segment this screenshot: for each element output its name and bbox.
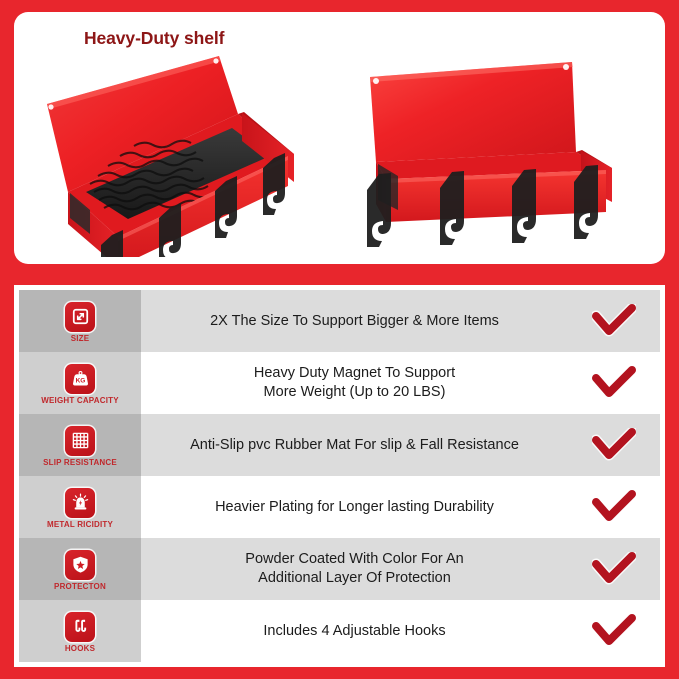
resize-size-icon <box>65 302 95 332</box>
feature-icon-cell: SLIP RESISTANCE <box>19 414 141 476</box>
checkmark-icon <box>592 490 636 524</box>
feature-icon-label: METAL RICIDITY <box>47 521 113 529</box>
feature-icon-cell: METAL RICIDITY <box>19 476 141 538</box>
feature-icon-label: PROTECTON <box>54 583 106 591</box>
shield-star-icon <box>65 550 95 580</box>
checkmark-icon <box>592 552 636 586</box>
checkmark-icon <box>592 304 636 338</box>
hero-card: Heavy-Duty shelf <box>14 12 665 264</box>
feature-check-cell <box>568 290 660 352</box>
checkmark-icon <box>592 614 636 648</box>
feature-description: Heavier Plating for Longer lasting Durab… <box>215 498 494 517</box>
table-row: KG WEIGHT CAPACITY Heavy Duty Magnet To … <box>19 352 660 414</box>
siren-beacon-icon <box>65 488 95 518</box>
product-image-left <box>42 52 332 257</box>
feature-icon-cell: PROTECTON <box>19 538 141 600</box>
product-image-right <box>334 52 634 257</box>
feature-description: Includes 4 Adjustable Hooks <box>263 622 445 641</box>
feature-text-cell: Heavier Plating for Longer lasting Durab… <box>141 476 568 538</box>
table-row: PROTECTON Powder Coated With Color For A… <box>19 538 660 600</box>
feature-icon-cell: HOOKS <box>19 600 141 662</box>
feature-table: SIZE 2X The Size To Support Bigger & Mor… <box>19 290 660 662</box>
feature-icon-label: WEIGHT CAPACITY <box>41 397 119 405</box>
feature-check-cell <box>568 600 660 662</box>
checkmark-icon <box>592 366 636 400</box>
feature-check-cell <box>568 352 660 414</box>
feature-table-card: SIZE 2X The Size To Support Bigger & Mor… <box>14 285 665 667</box>
feature-text-cell: Includes 4 Adjustable Hooks <box>141 600 568 662</box>
feature-icon-cell: KG WEIGHT CAPACITY <box>19 352 141 414</box>
feature-text-cell: Heavy Duty Magnet To Support More Weight… <box>141 352 568 414</box>
feature-icon-label: SLIP RESISTANCE <box>43 459 117 467</box>
feature-icon-cell: SIZE <box>19 290 141 352</box>
checkmark-icon <box>592 428 636 462</box>
feature-text-cell: Powder Coated With Color For An Addition… <box>141 538 568 600</box>
feature-text-cell: 2X The Size To Support Bigger & More Ite… <box>141 290 568 352</box>
feature-check-cell <box>568 538 660 600</box>
double-hook-icon <box>65 612 95 642</box>
weight-kg-icon: KG <box>65 364 95 394</box>
feature-description: Heavy Duty Magnet To Support More Weight… <box>254 364 455 401</box>
feature-check-cell <box>568 414 660 476</box>
feature-icon-label: HOOKS <box>65 645 95 653</box>
feature-description: 2X The Size To Support Bigger & More Ite… <box>210 312 499 331</box>
table-row: SLIP RESISTANCE Anti-Slip pvc Rubber Mat… <box>19 414 660 476</box>
feature-text-cell: Anti-Slip pvc Rubber Mat For slip & Fall… <box>141 414 568 476</box>
product-infographic-poster: Heavy-Duty shelf <box>0 0 679 679</box>
page-title: Heavy-Duty shelf <box>84 28 224 49</box>
table-row: HOOKS Includes 4 Adjustable Hooks <box>19 600 660 662</box>
feature-icon-label: SIZE <box>71 335 90 343</box>
feature-check-cell <box>568 476 660 538</box>
feature-description: Powder Coated With Color For An Addition… <box>245 550 463 587</box>
svg-text:KG: KG <box>75 378 85 385</box>
feature-description: Anti-Slip pvc Rubber Mat For slip & Fall… <box>190 436 519 455</box>
table-row: SIZE 2X The Size To Support Bigger & Mor… <box>19 290 660 352</box>
grid-mesh-icon <box>65 426 95 456</box>
table-row: METAL RICIDITY Heavier Plating for Longe… <box>19 476 660 538</box>
